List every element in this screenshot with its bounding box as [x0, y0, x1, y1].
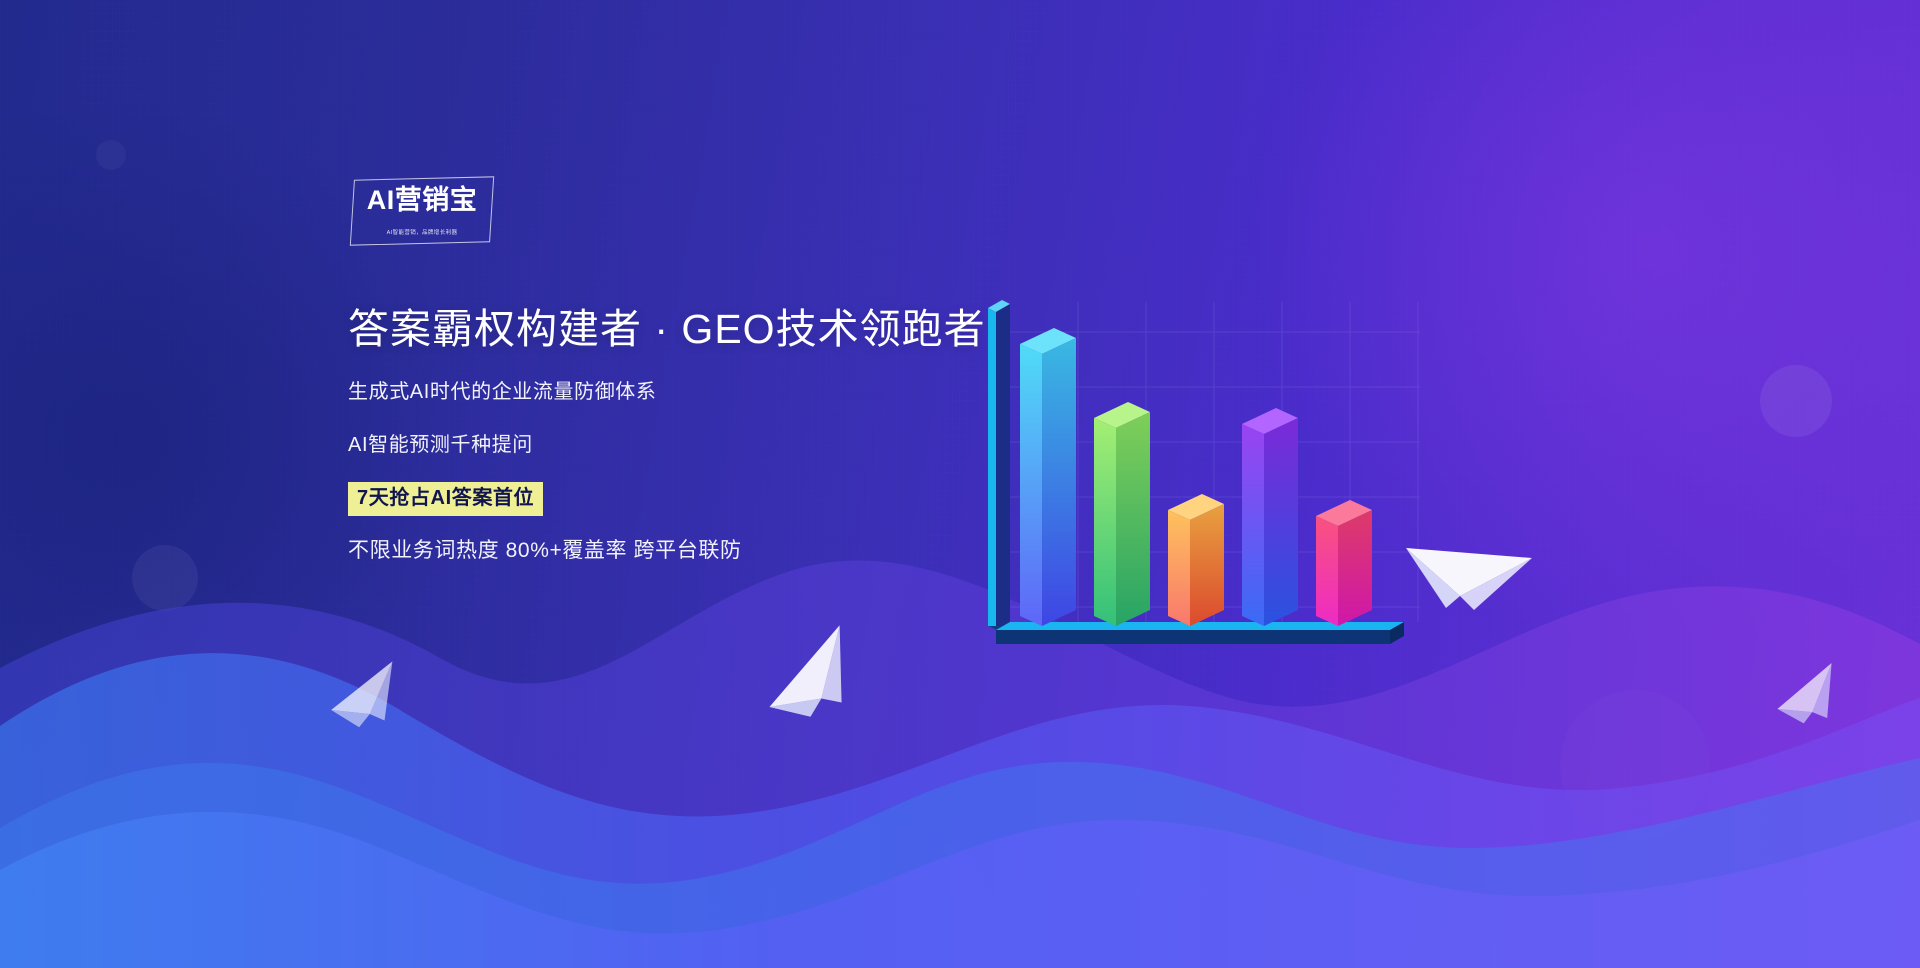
hero-subline-1: 生成式AI时代的企业流量防御体系 — [348, 380, 1048, 405]
hero-highlight-row: 7天抢占AI答案首位 — [348, 482, 1048, 516]
hero-features: 不限业务词热度 80%+覆盖率 跨平台联防 — [348, 538, 1048, 564]
logo-tagline: AI智能营销，品牌增长利器 — [358, 230, 487, 236]
hero-copy: 答案霸权构建者 · GEO技术领跑者 生成式AI时代的企业流量防御体系 AI智能… — [348, 305, 1048, 564]
chart-base — [988, 622, 1404, 644]
page-title: 答案霸权构建者 · GEO技术领跑者 — [348, 305, 1048, 354]
chart-bar — [1020, 328, 1076, 626]
banner-stage: AI营销宝 AI智能营销，品牌增长利器 答案霸权构建者 · GEO技术领跑者 生… — [0, 0, 1920, 968]
chart-bar — [1094, 402, 1150, 626]
wave-decoration — [0, 548, 1920, 968]
highlight-badge: 7天抢占AI答案首位 — [348, 482, 543, 516]
chart-bar — [1316, 500, 1372, 626]
brand-logo[interactable]: AI营销宝 AI智能营销，品牌增长利器 — [352, 178, 492, 244]
chart-bar — [1242, 408, 1298, 626]
chart-y-axis — [988, 300, 1010, 630]
bar-chart-illustration — [980, 292, 1440, 664]
hero-subline-2: AI智能预测千种提问 — [348, 433, 1048, 458]
chart-bar — [1168, 494, 1224, 626]
logo-text: AI营销宝 — [352, 187, 492, 214]
